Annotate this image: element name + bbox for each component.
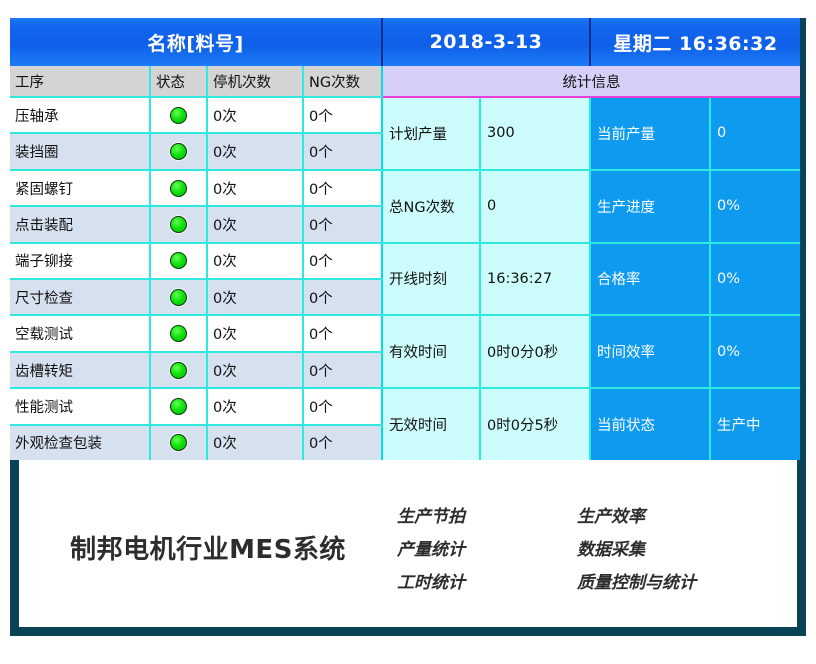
process-status-table: 工序 状态 停机次数 NG次数 压轴承 0次 0个 装挡圈 0次 0个 紧固螺钉 [10, 66, 383, 460]
process-name: 压轴承 [10, 98, 151, 132]
stop-count: 0次 [208, 171, 304, 205]
stop-count: 0次 [208, 316, 304, 350]
process-name: 外观检查包装 [10, 426, 151, 460]
process-name: 装挡圈 [10, 134, 151, 168]
column-header-process: 工序 [10, 66, 151, 96]
ng-count: 0个 [304, 244, 381, 278]
process-status-cell [151, 207, 208, 241]
process-name: 点击装配 [10, 207, 151, 241]
feature-item: 产量统计 [397, 535, 577, 560]
table-row[interactable]: 点击装配 0次 0个 [10, 207, 383, 243]
stat-label-current-output: 当前产量 [591, 98, 711, 169]
brand-panel: 制邦电机行业MES系统 生产节拍 生产效率 产量统计 数据采集 工时统计 质量控… [19, 469, 797, 626]
stat-label-plan-output: 计划产量 [383, 98, 481, 169]
stat-label-current-state: 当前状态 [591, 389, 711, 460]
stat-value-pass-rate: 0% [711, 244, 800, 315]
stat-label-effective-time: 有效时间 [383, 316, 481, 387]
column-header-ng: NG次数 [304, 66, 381, 96]
statistics-rows: 计划产量 300 当前产量 0 总NG次数 0 生产进度 0% 开线时刻 16:… [383, 98, 800, 460]
feature-item: 生产节拍 [397, 502, 577, 527]
stat-value-total-ng: 0 [481, 171, 591, 242]
stop-count: 0次 [208, 244, 304, 278]
feature-item: 工时统计 [397, 568, 577, 593]
stat-value-invalid-time: 0时0分5秒 [481, 389, 591, 460]
feature-list: 生产节拍 生产效率 产量统计 数据采集 工时统计 质量控制与统计 [397, 498, 797, 597]
stat-label-total-ng: 总NG次数 [383, 171, 481, 242]
stat-value-time-efficiency: 0% [711, 316, 800, 387]
statistics-header: 统计信息 [383, 66, 800, 98]
stat-row: 开线时刻 16:36:27 合格率 0% [383, 244, 800, 317]
stat-row: 计划产量 300 当前产量 0 [383, 98, 800, 171]
stat-row: 总NG次数 0 生产进度 0% [383, 171, 800, 244]
table-row[interactable]: 性能测试 0次 0个 [10, 389, 383, 425]
table-row[interactable]: 紧固螺钉 0次 0个 [10, 171, 383, 207]
stat-row: 有效时间 0时0分0秒 时间效率 0% [383, 316, 800, 389]
table-row[interactable]: 齿槽转矩 0次 0个 [10, 353, 383, 389]
weekday-and-time: 星期二 16:36:32 [591, 18, 800, 66]
dashboard-body: 工序 状态 停机次数 NG次数 压轴承 0次 0个 装挡圈 0次 0个 紧固螺钉 [10, 66, 800, 460]
ng-count: 0个 [304, 353, 381, 387]
process-name: 空载测试 [10, 316, 151, 350]
stat-label-time-efficiency: 时间效率 [591, 316, 711, 387]
ng-count: 0个 [304, 426, 381, 460]
green-led-icon [170, 143, 187, 160]
column-header-stops: 停机次数 [208, 66, 304, 96]
stat-value-plan-output: 300 [481, 98, 591, 169]
process-status-cell [151, 389, 208, 423]
process-name: 齿槽转矩 [10, 353, 151, 387]
stop-count: 0次 [208, 134, 304, 168]
process-status-cell [151, 426, 208, 460]
table-row[interactable]: 外观检查包装 0次 0个 [10, 426, 383, 460]
process-name: 尺寸检查 [10, 280, 151, 314]
green-led-icon [170, 252, 187, 269]
green-led-icon [170, 362, 187, 379]
stop-count: 0次 [208, 207, 304, 241]
ng-count: 0个 [304, 134, 381, 168]
green-led-icon [170, 289, 187, 306]
statistics-panel: 统计信息 计划产量 300 当前产量 0 总NG次数 0 生产进度 0% 开线时… [383, 66, 800, 460]
feature-item: 数据采集 [577, 535, 797, 560]
process-status-cell [151, 316, 208, 350]
green-led-icon [170, 325, 187, 342]
table-row[interactable]: 尺寸检查 0次 0个 [10, 280, 383, 316]
table-header-row: 工序 状态 停机次数 NG次数 [10, 66, 383, 98]
table-row[interactable]: 端子铆接 0次 0个 [10, 244, 383, 280]
column-header-status: 状态 [151, 66, 208, 96]
ng-count: 0个 [304, 389, 381, 423]
table-row[interactable]: 压轴承 0次 0个 [10, 98, 383, 134]
stop-count: 0次 [208, 98, 304, 132]
status-badge: 生产中 [711, 389, 800, 460]
green-led-icon [170, 398, 187, 415]
ng-count: 0个 [304, 316, 381, 350]
ng-count: 0个 [304, 171, 381, 205]
stop-count: 0次 [208, 280, 304, 314]
stat-label-pass-rate: 合格率 [591, 244, 711, 315]
green-led-icon [170, 216, 187, 233]
feature-item: 质量控制与统计 [577, 568, 797, 593]
process-name: 端子铆接 [10, 244, 151, 278]
green-led-icon [170, 107, 187, 124]
process-status-cell [151, 134, 208, 168]
ng-count: 0个 [304, 280, 381, 314]
stat-value-start-time: 16:36:27 [481, 244, 591, 315]
stat-value-progress: 0% [711, 171, 800, 242]
process-status-cell [151, 280, 208, 314]
stat-row: 无效时间 0时0分5秒 当前状态 生产中 [383, 389, 800, 460]
process-name: 紧固螺钉 [10, 171, 151, 205]
dashboard-title-bar: 名称[料号] 2018-3-13 星期二 16:36:32 [10, 18, 800, 66]
stop-count: 0次 [208, 389, 304, 423]
stop-count: 0次 [208, 353, 304, 387]
product-name-title: 名称[料号] [10, 18, 383, 66]
ng-count: 0个 [304, 98, 381, 132]
process-status-cell [151, 244, 208, 278]
ng-count: 0个 [304, 207, 381, 241]
product-brand-name: 制邦电机行业MES系统 [19, 529, 397, 566]
table-row[interactable]: 装挡圈 0次 0个 [10, 134, 383, 170]
stat-label-progress: 生产进度 [591, 171, 711, 242]
stat-value-current-output: 0 [711, 98, 800, 169]
green-led-icon [170, 180, 187, 197]
stop-count: 0次 [208, 426, 304, 460]
stat-label-start-time: 开线时刻 [383, 244, 481, 315]
process-status-cell [151, 171, 208, 205]
stat-label-invalid-time: 无效时间 [383, 389, 481, 460]
process-name: 性能测试 [10, 389, 151, 423]
green-led-icon [170, 434, 187, 451]
stat-value-effective-time: 0时0分0秒 [481, 316, 591, 387]
current-date: 2018-3-13 [383, 18, 591, 66]
process-status-cell [151, 98, 208, 132]
process-status-cell [151, 353, 208, 387]
table-row[interactable]: 空载测试 0次 0个 [10, 316, 383, 352]
feature-item: 生产效率 [577, 502, 797, 527]
production-dashboard: 名称[料号] 2018-3-13 星期二 16:36:32 工序 状态 停机次数… [10, 18, 800, 460]
